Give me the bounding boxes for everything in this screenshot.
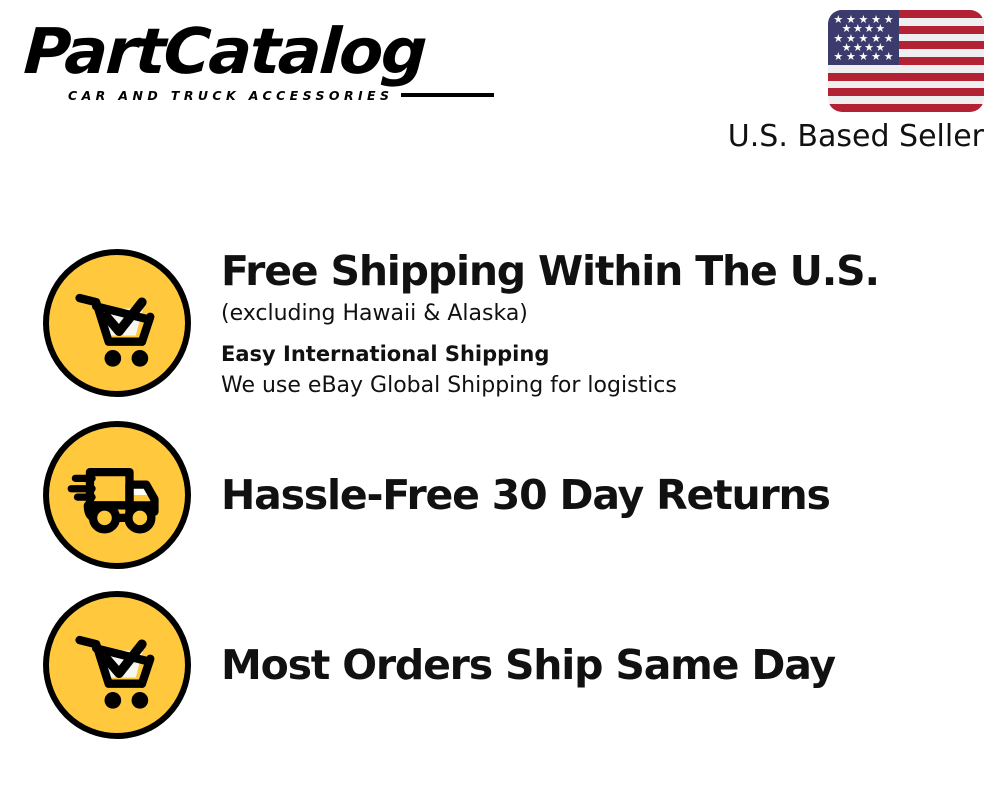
feature-sub-note: We use eBay Global Shipping for logistic… bbox=[221, 370, 980, 401]
shopping-cart-check-icon bbox=[43, 249, 191, 397]
feature-row: Most Orders Ship Same Day bbox=[0, 591, 1000, 739]
brand-wordmark: PartCatalog bbox=[22, 18, 505, 86]
feature-title: Hassle-Free 30 Day Returns bbox=[221, 470, 980, 520]
feature-note: (excluding Hawaii & Alaska) bbox=[221, 298, 980, 330]
shopping-cart-check-icon bbox=[43, 591, 191, 739]
feature-text: Hassle-Free 30 Day Returns bbox=[221, 470, 1000, 520]
feature-text: Most Orders Ship Same Day bbox=[221, 640, 1000, 690]
brand-rule-divider bbox=[401, 93, 494, 97]
feature-title: Most Orders Ship Same Day bbox=[221, 640, 980, 690]
feature-row: Hassle-Free 30 Day Returns bbox=[0, 421, 1000, 569]
seller-badge: ★★★★★ ★★★★ ★★★★★ ★★★★ ★★★★★ U.S. Based S… bbox=[714, 10, 984, 154]
brand-logo[interactable]: PartCatalog CAR AND TRUCK ACCESSORIES bbox=[24, 18, 494, 113]
delivery-truck-icon bbox=[43, 421, 191, 569]
page-header: PartCatalog CAR AND TRUCK ACCESSORIES bbox=[0, 0, 1000, 175]
seller-badge-label: U.S. Based Seller bbox=[714, 120, 984, 154]
feature-row: Free Shipping Within The U.S. (excluding… bbox=[0, 249, 1000, 397]
feature-text: Free Shipping Within The U.S. (excluding… bbox=[221, 246, 1000, 401]
brand-tagline: CAR AND TRUCK ACCESSORIES bbox=[68, 88, 393, 103]
us-flag-icon: ★★★★★ ★★★★ ★★★★★ ★★★★ ★★★★★ bbox=[828, 10, 984, 112]
feature-sub-title: Easy International Shipping bbox=[221, 339, 980, 370]
feature-title: Free Shipping Within The U.S. bbox=[221, 246, 980, 296]
brand-tagline-row: CAR AND TRUCK ACCESSORIES bbox=[68, 88, 494, 103]
flag-canton: ★★★★★ ★★★★ ★★★★★ ★★★★ ★★★★★ bbox=[828, 10, 899, 65]
